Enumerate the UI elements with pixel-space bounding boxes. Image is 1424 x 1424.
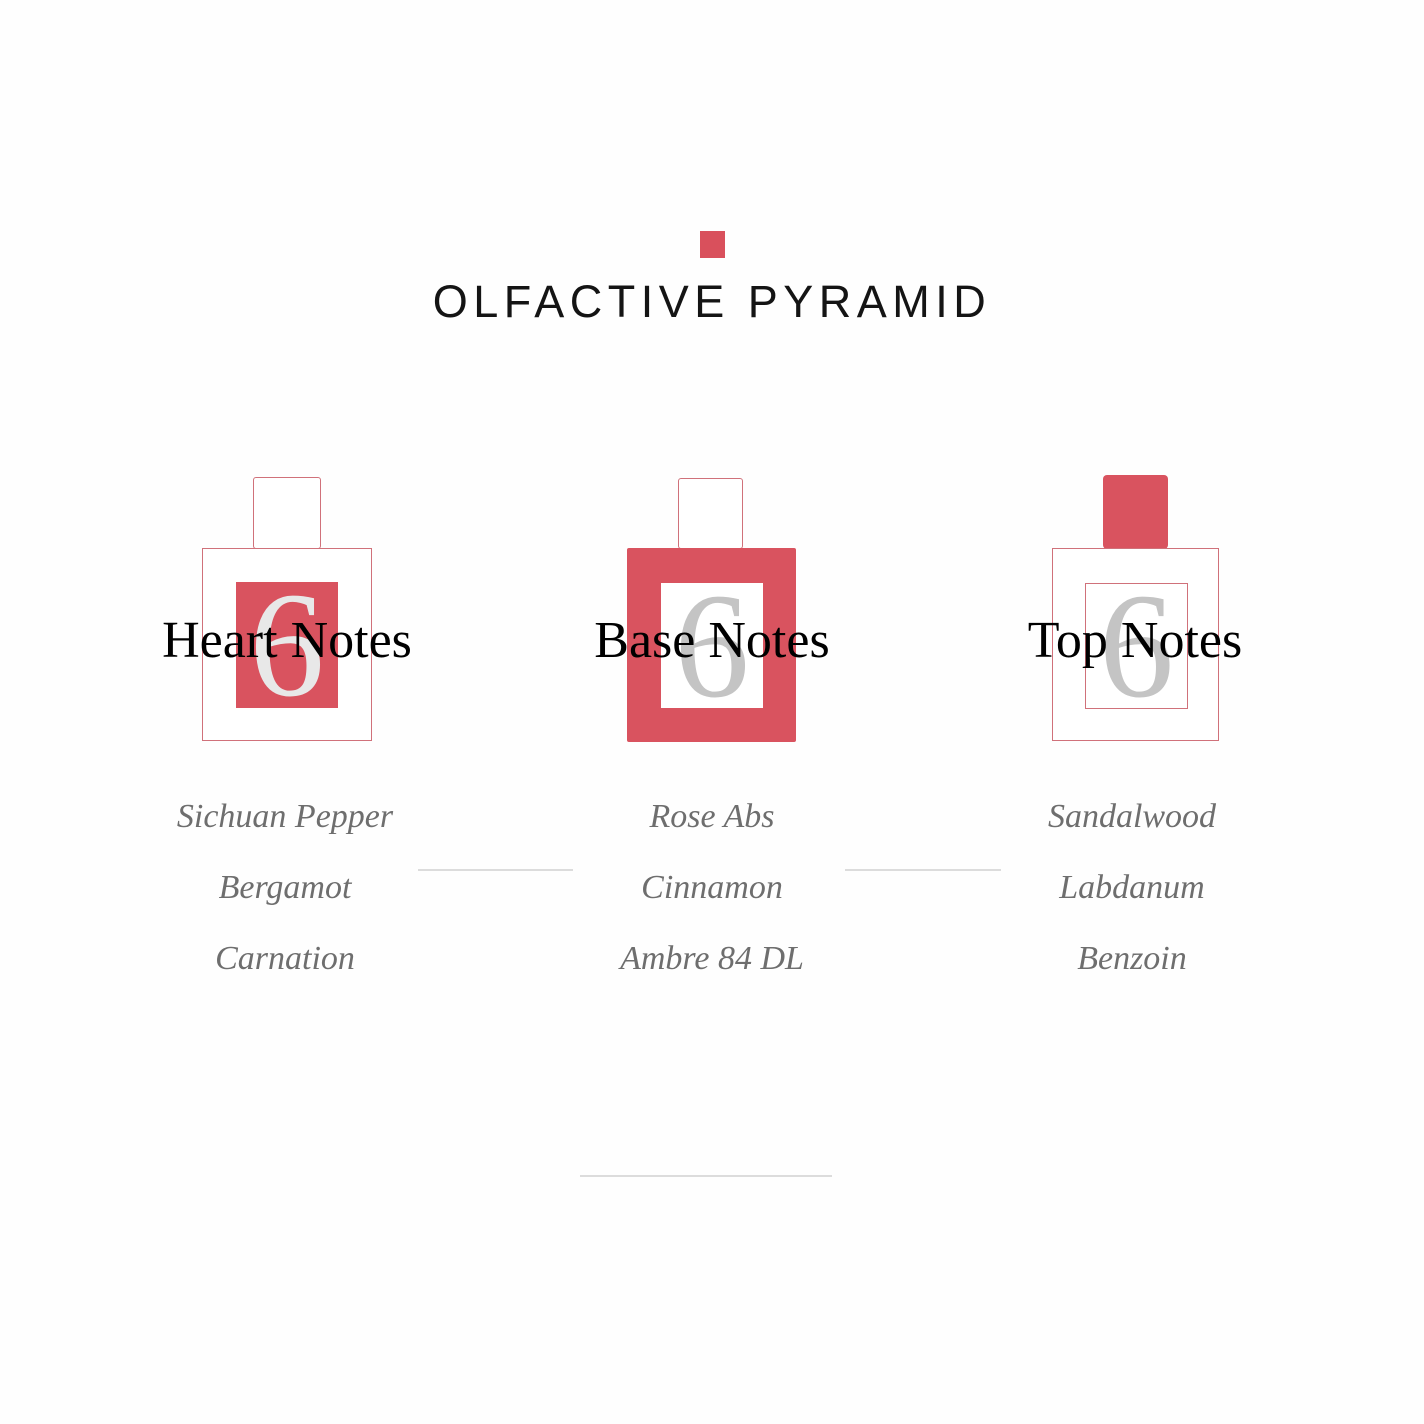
notes-list-top: Sandalwood Labdanum Benzoin (932, 800, 1332, 976)
note-item: Bergamot (85, 871, 485, 905)
bottle-top-cap (1103, 475, 1168, 549)
page-title: OLFACTIVE PYRAMID (0, 279, 1424, 324)
divider-base-top (845, 869, 1001, 871)
note-item: Rose Abs (512, 800, 912, 834)
heading-base-notes: Base Notes (512, 615, 912, 667)
notes-list-base: Rose Abs Cinnamon Ambre 84 DL (512, 800, 912, 976)
divider-heart-base (418, 869, 573, 871)
bottle-heart-cap (253, 477, 321, 549)
note-item: Carnation (85, 942, 485, 976)
divider-bottom (580, 1175, 832, 1177)
note-item: Sandalwood (932, 800, 1332, 834)
heading-top-notes: Top Notes (935, 615, 1335, 667)
bottle-base-cap (678, 478, 743, 549)
red-square-mark (700, 231, 725, 258)
heading-heart-notes: Heart Notes (87, 615, 487, 667)
note-item: Labdanum (932, 871, 1332, 905)
note-item: Benzoin (932, 942, 1332, 976)
poster-canvas: OLFACTIVE PYRAMID 6 6 6 Heart Notes Base… (0, 0, 1424, 1424)
note-item: Sichuan Pepper (85, 800, 485, 834)
notes-list-heart: Sichuan Pepper Bergamot Carnation (85, 800, 485, 976)
note-item: Ambre 84 DL (512, 942, 912, 976)
note-item: Cinnamon (512, 871, 912, 905)
